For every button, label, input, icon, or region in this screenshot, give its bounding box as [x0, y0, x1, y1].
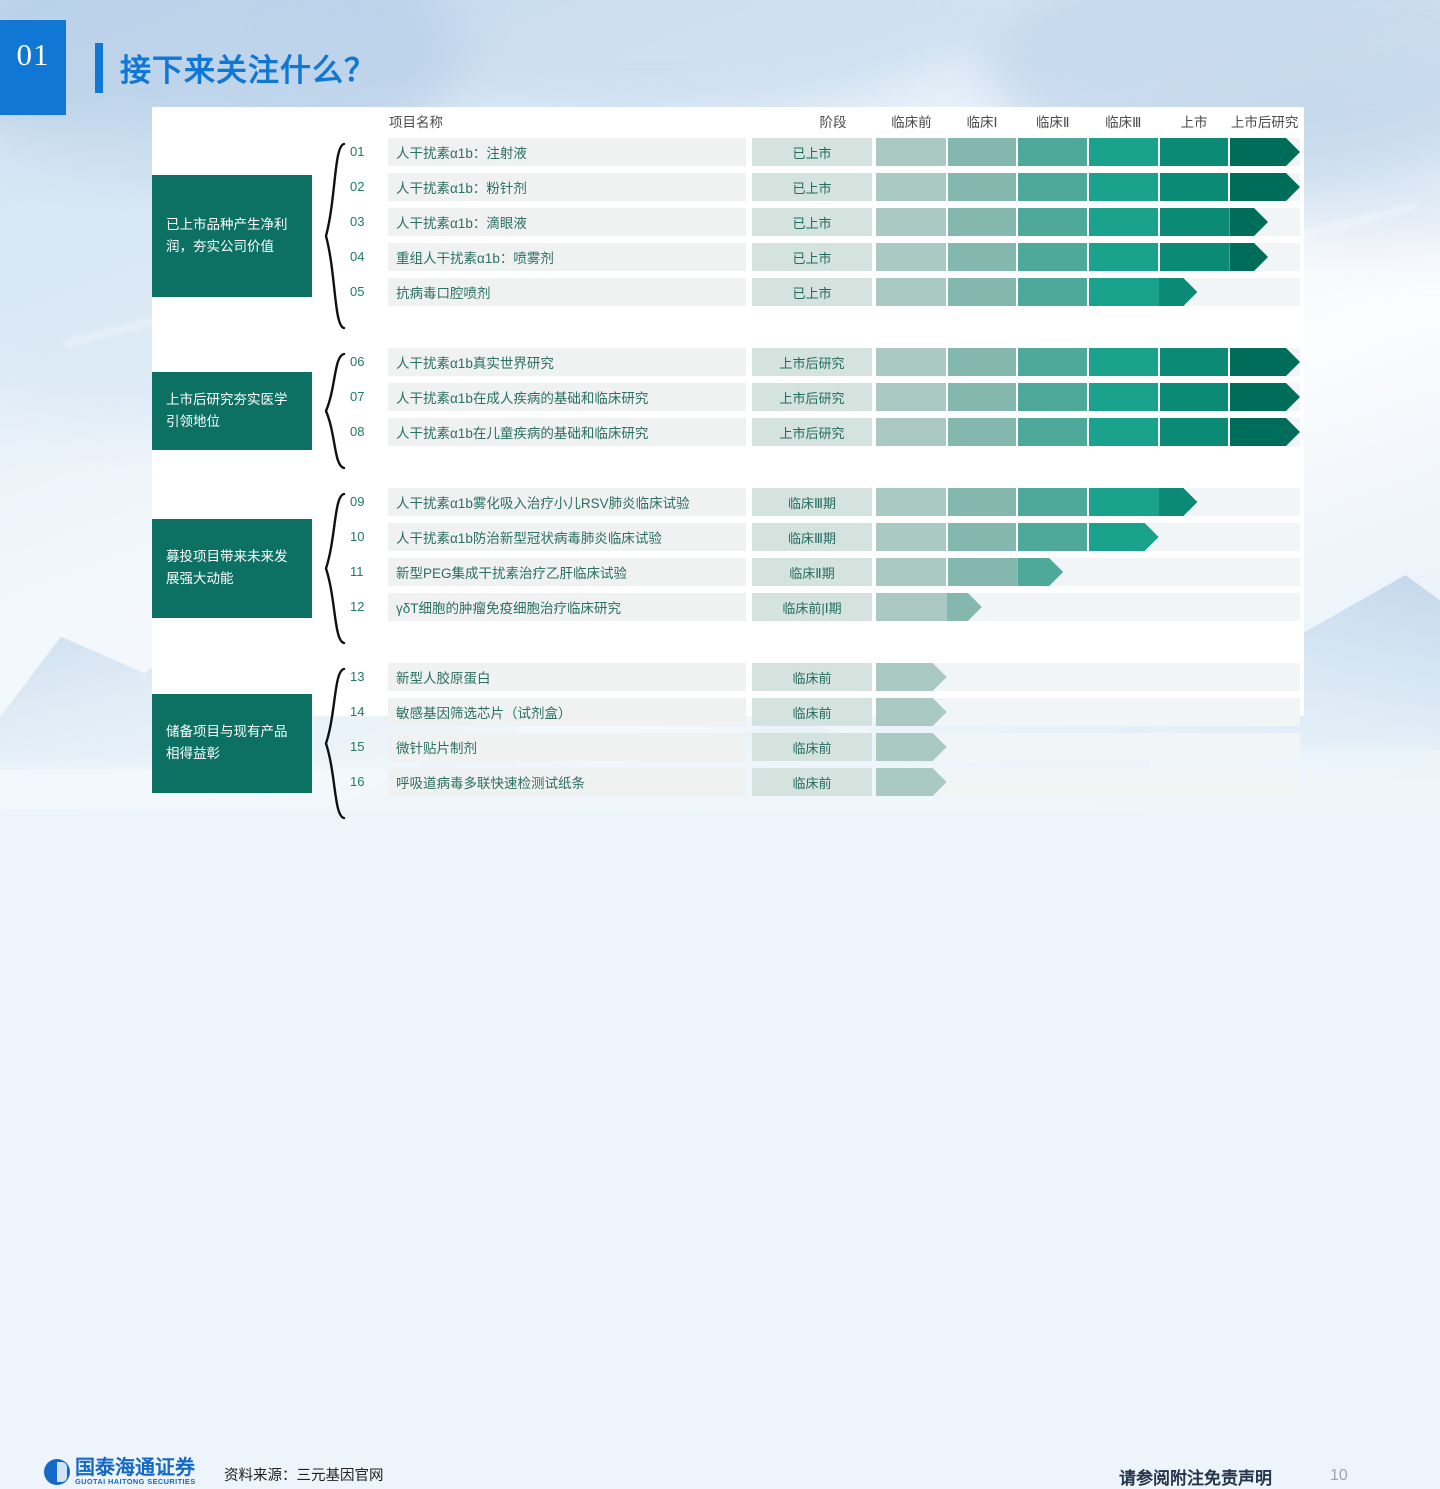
- segment-divider: [1016, 173, 1018, 201]
- row-number: 07: [350, 389, 378, 404]
- row-project-name: 重组人干扰素α1b：喷雾剂: [388, 243, 746, 271]
- progress-segment-临床前: [876, 208, 947, 236]
- row-number: 11: [350, 564, 378, 579]
- segment-divider: [1016, 208, 1018, 236]
- segment-divider: [1016, 383, 1018, 411]
- row-project-name: 人干扰素α1b真实世界研究: [388, 348, 746, 376]
- progress-segment-临床Ⅲ: [1088, 208, 1159, 236]
- segment-divider: [1228, 348, 1230, 376]
- segment-divider: [946, 418, 948, 446]
- segment-divider: [1016, 278, 1018, 306]
- row-progress-track: [876, 383, 1300, 411]
- row-progress-track: [876, 663, 1300, 691]
- segment-divider: [946, 558, 948, 586]
- progress-segment-上市: [1159, 383, 1230, 411]
- progress-segment-临床前: [876, 663, 947, 691]
- row-stage-badge: 临床Ⅲ期: [752, 488, 872, 516]
- row-progress-track: [876, 593, 1300, 621]
- progress-segment-临床Ⅰ: [947, 488, 1018, 516]
- segment-divider: [1228, 418, 1230, 446]
- segment-divider: [1087, 488, 1089, 516]
- slide-header: 01 接下来关注什么？: [0, 20, 376, 115]
- progress-segment-临床前: [876, 418, 947, 446]
- segment-divider: [1158, 243, 1160, 271]
- progress-segment-临床Ⅱ: [1017, 243, 1088, 271]
- row-stage-badge: 临床前: [752, 663, 872, 691]
- progress-segment-临床前: [876, 593, 947, 621]
- progress-segment-临床Ⅰ: [947, 243, 1018, 271]
- segment-divider: [1087, 243, 1089, 271]
- row-progress-track: [876, 138, 1300, 166]
- progress-segment-上市: [1159, 173, 1230, 201]
- progress-segment-临床Ⅲ: [1088, 243, 1159, 271]
- progress-segment-临床Ⅲ: [1088, 418, 1159, 446]
- row-number: 09: [350, 494, 378, 509]
- logo-text-en: GUOTAI HAITONG SECURITIES: [75, 1477, 196, 1486]
- page-number: 10: [1330, 1467, 1348, 1485]
- logo-mark-icon: [44, 1459, 70, 1485]
- segment-divider: [1016, 523, 1018, 551]
- row-stage-badge: 上市后研究: [752, 348, 872, 376]
- row-stage-badge: 临床Ⅱ期: [752, 558, 872, 586]
- progress-segment-临床Ⅰ: [947, 278, 1018, 306]
- progress-segment-上市: [1159, 138, 1230, 166]
- progress-segment-上市: [1159, 278, 1198, 306]
- segment-divider: [946, 278, 948, 306]
- logo-text-cn: 国泰海通证券: [75, 1458, 196, 1477]
- progress-segment-临床Ⅰ: [947, 558, 1018, 586]
- row-stage-badge: 上市后研究: [752, 418, 872, 446]
- progress-segment-临床Ⅱ: [1017, 278, 1088, 306]
- progress-segment-临床Ⅲ: [1088, 348, 1159, 376]
- row-project-name: 人干扰素α1b在成人疾病的基础和临床研究: [388, 383, 746, 411]
- progress-segment-上市后研究: [1229, 208, 1268, 236]
- company-logo: 国泰海通证券 GUOTAI HAITONG SECURITIES: [44, 1458, 196, 1486]
- row-number: 06: [350, 354, 378, 369]
- progress-segment-上市: [1159, 488, 1198, 516]
- progress-segment-临床前: [876, 523, 947, 551]
- slide-footer: 国泰海通证券 GUOTAI HAITONG SECURITIES 资料来源：三元…: [0, 720, 1440, 810]
- row-stage-badge: 已上市: [752, 278, 872, 306]
- group-label-block-2: 上市后研究夯实医学引领地位: [152, 372, 312, 450]
- row-progress-track: [876, 243, 1300, 271]
- row-number: 04: [350, 249, 378, 264]
- row-number: 02: [350, 179, 378, 194]
- row-project-name: 人干扰素α1b：粉针剂: [388, 173, 746, 201]
- row-number: 01: [350, 144, 378, 159]
- row-project-name: 抗病毒口腔喷剂: [388, 278, 746, 306]
- page-title: 接下来关注什么？: [120, 45, 376, 90]
- progress-segment-上市后研究: [1229, 418, 1300, 446]
- row-progress-track: [876, 523, 1300, 551]
- row-progress-track: [876, 348, 1300, 376]
- row-number: 13: [350, 669, 378, 684]
- segment-divider: [1158, 348, 1160, 376]
- title-accent-bar: [95, 43, 103, 93]
- progress-segment-临床前: [876, 173, 947, 201]
- segment-divider: [1016, 138, 1018, 166]
- progress-segment-临床Ⅰ: [947, 348, 1018, 376]
- progress-segment-上市后研究: [1229, 173, 1300, 201]
- row-project-name: 人干扰素α1b：滴眼液: [388, 208, 746, 236]
- segment-divider: [946, 138, 948, 166]
- group-brace-1: [320, 142, 346, 330]
- segment-divider: [946, 208, 948, 236]
- progress-segment-上市后研究: [1229, 348, 1300, 376]
- segment-divider: [946, 173, 948, 201]
- progress-segment-临床Ⅰ: [947, 383, 1018, 411]
- segment-divider: [946, 348, 948, 376]
- pipeline-table-card: 项目名称 阶段 临床前临床Ⅰ临床Ⅱ临床Ⅲ上市上市后研究 01人干扰素α1b：注射…: [152, 107, 1304, 716]
- progress-segment-临床Ⅲ: [1088, 278, 1159, 306]
- row-project-name: 人干扰素α1b：注射液: [388, 138, 746, 166]
- row-number: 08: [350, 424, 378, 439]
- segment-divider: [1087, 383, 1089, 411]
- row-progress-track: [876, 558, 1300, 586]
- progress-segment-上市后研究: [1229, 138, 1300, 166]
- segment-divider: [1087, 138, 1089, 166]
- row-stage-badge: 已上市: [752, 138, 872, 166]
- segment-divider: [1087, 348, 1089, 376]
- row-number: 12: [350, 599, 378, 614]
- row-progress-track: [876, 278, 1300, 306]
- segment-divider: [946, 488, 948, 516]
- row-project-name: γδT细胞的肿瘤免疫细胞治疗临床研究: [388, 593, 746, 621]
- progress-segment-上市: [1159, 243, 1230, 271]
- row-stage-badge: 已上市: [752, 243, 872, 271]
- progress-segment-上市: [1159, 418, 1230, 446]
- disclaimer-note: 请参阅附注免责声明: [1119, 1464, 1272, 1489]
- segment-divider: [1087, 208, 1089, 236]
- segment-divider: [1158, 383, 1160, 411]
- progress-segment-临床Ⅲ: [1088, 523, 1159, 551]
- progress-segment-上市后研究: [1229, 243, 1268, 271]
- group-label-block-3: 募投项目带来未来发展强大动能: [152, 519, 312, 619]
- progress-segment-临床Ⅱ: [1017, 383, 1088, 411]
- row-progress-track: [876, 488, 1300, 516]
- row-progress-track: [876, 173, 1300, 201]
- progress-segment-临床Ⅱ: [1017, 173, 1088, 201]
- section-number: 01: [0, 20, 66, 115]
- segment-divider: [1158, 173, 1160, 201]
- row-project-name: 人干扰素α1b防治新型冠状病毒肺炎临床试验: [388, 523, 746, 551]
- progress-segment-临床前: [876, 348, 947, 376]
- progress-segment-临床Ⅰ: [947, 418, 1018, 446]
- progress-segment-临床前: [876, 558, 947, 586]
- row-stage-badge: 上市后研究: [752, 383, 872, 411]
- segment-divider: [1158, 418, 1160, 446]
- segment-divider: [946, 383, 948, 411]
- progress-segment-上市: [1159, 208, 1230, 236]
- progress-segment-临床Ⅱ: [1017, 208, 1088, 236]
- progress-segment-上市: [1159, 348, 1230, 376]
- progress-segment-临床Ⅲ: [1088, 383, 1159, 411]
- progress-segment-临床前: [876, 383, 947, 411]
- segment-divider: [1016, 243, 1018, 271]
- row-stage-badge: 临床Ⅲ期: [752, 523, 872, 551]
- segment-divider: [1016, 488, 1018, 516]
- segment-divider: [1087, 278, 1089, 306]
- row-project-name: 新型人胶原蛋白: [388, 663, 746, 691]
- progress-segment-临床Ⅱ: [1017, 558, 1063, 586]
- source-note: 资料来源：三元基因官网: [224, 1464, 384, 1485]
- progress-segment-临床Ⅱ: [1017, 488, 1088, 516]
- row-project-name: 新型PEG集成干扰素治疗乙肝临床试验: [388, 558, 746, 586]
- row-progress-track: [876, 418, 1300, 446]
- progress-segment-临床Ⅱ: [1017, 138, 1088, 166]
- group-brace-2: [320, 352, 346, 470]
- segment-divider: [1016, 418, 1018, 446]
- progress-segment-临床前: [876, 488, 947, 516]
- progress-segment-临床Ⅱ: [1017, 523, 1088, 551]
- row-progress-track: [876, 208, 1300, 236]
- table-body: 01人干扰素α1b：注射液已上市02人干扰素α1b：粉针剂已上市03人干扰素α1…: [152, 107, 1304, 716]
- progress-segment-临床前: [876, 243, 947, 271]
- segment-divider: [1087, 173, 1089, 201]
- progress-segment-临床Ⅲ: [1088, 138, 1159, 166]
- segment-divider: [1228, 383, 1230, 411]
- row-project-name: 人干扰素α1b在儿童疾病的基础和临床研究: [388, 418, 746, 446]
- segment-divider: [1016, 348, 1018, 376]
- progress-segment-临床前: [876, 138, 947, 166]
- row-number: 05: [350, 284, 378, 299]
- segment-divider: [1228, 173, 1230, 201]
- progress-segment-临床Ⅲ: [1088, 488, 1159, 516]
- segment-divider: [1087, 523, 1089, 551]
- progress-segment-临床Ⅰ: [947, 208, 1018, 236]
- segment-divider: [946, 243, 948, 271]
- segment-divider: [946, 523, 948, 551]
- segment-divider: [1228, 138, 1230, 166]
- segment-divider: [1087, 418, 1089, 446]
- segment-divider: [1158, 138, 1160, 166]
- progress-segment-临床Ⅰ: [947, 173, 1018, 201]
- group-brace-3: [320, 492, 346, 645]
- row-number: 10: [350, 529, 378, 544]
- row-number: 03: [350, 214, 378, 229]
- progress-segment-临床Ⅱ: [1017, 348, 1088, 376]
- progress-segment-临床Ⅰ: [947, 523, 1018, 551]
- progress-segment-临床Ⅰ: [947, 138, 1018, 166]
- progress-segment-临床Ⅲ: [1088, 173, 1159, 201]
- group-label-block-1: 已上市品种产生净利润，夯实公司价值: [152, 175, 312, 297]
- progress-segment-临床前: [876, 278, 947, 306]
- row-stage-badge: 已上市: [752, 208, 872, 236]
- progress-segment-上市后研究: [1229, 383, 1300, 411]
- row-stage-badge: 临床前|Ⅰ期: [752, 593, 872, 621]
- progress-segment-临床Ⅰ: [947, 593, 982, 621]
- row-number: 14: [350, 704, 378, 719]
- progress-segment-临床Ⅱ: [1017, 418, 1088, 446]
- segment-divider: [1158, 208, 1160, 236]
- row-stage-badge: 已上市: [752, 173, 872, 201]
- row-project-name: 人干扰素α1b雾化吸入治疗小儿RSV肺炎临床试验: [388, 488, 746, 516]
